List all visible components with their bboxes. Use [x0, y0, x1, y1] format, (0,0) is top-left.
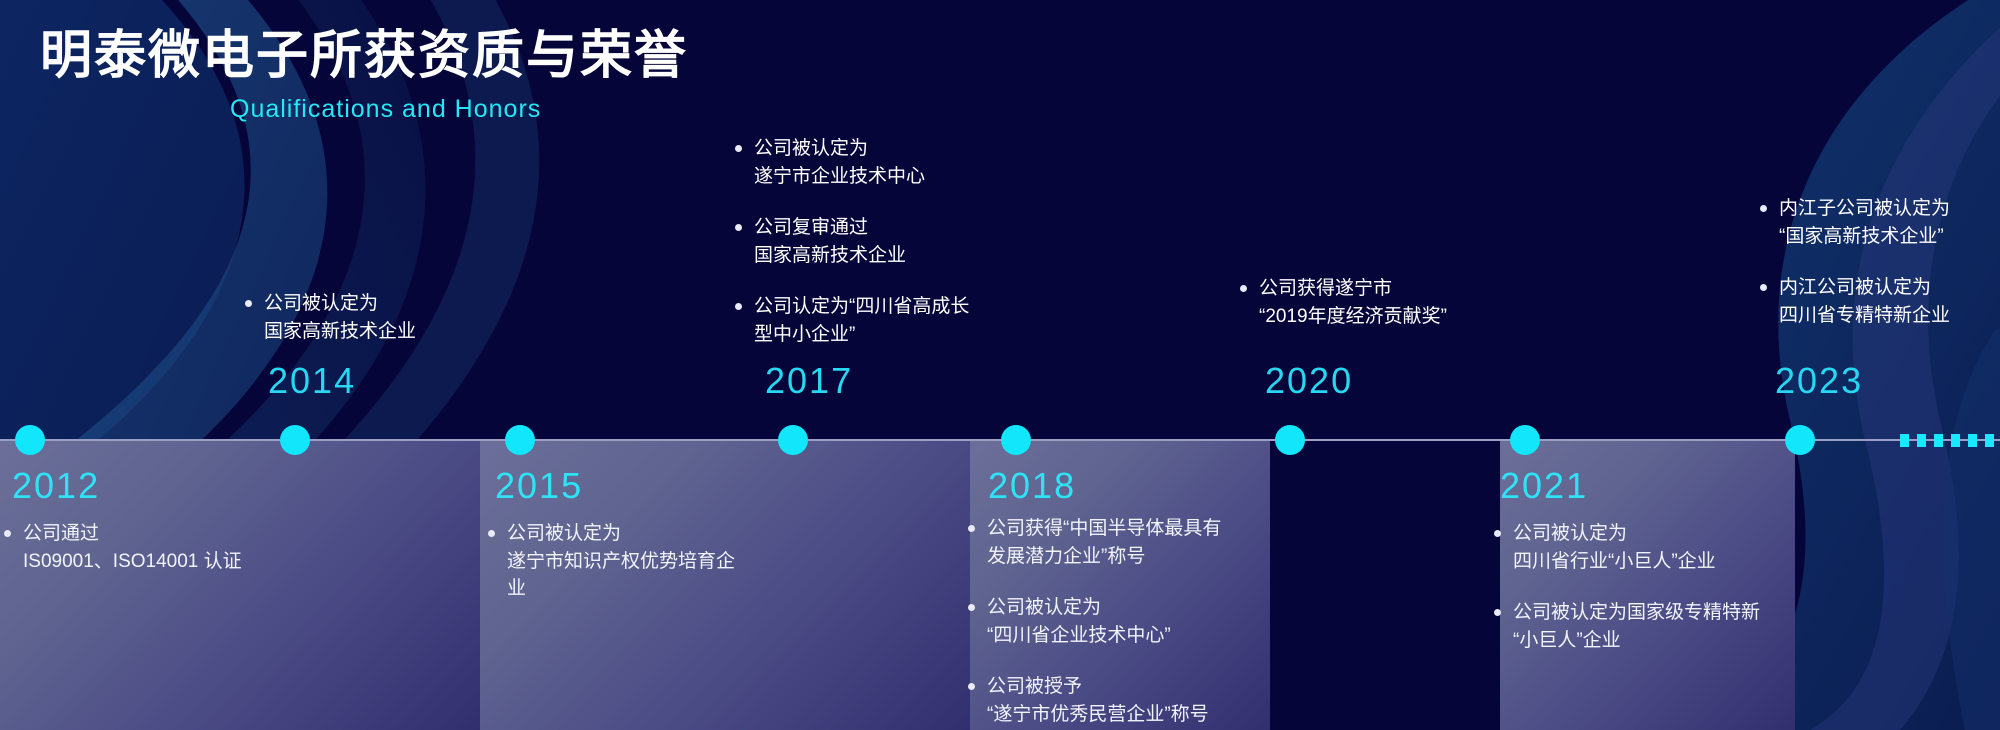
milestone-bullet-text: 公司认定为“四川省高成长 型中小企业”	[754, 293, 969, 348]
milestone-block-2017: 公司被认定为 遂宁市企业技术中心公司复审通过 国家高新技术企业公司认定为“四川省…	[735, 135, 1065, 348]
milestone-block-2014: 公司被认定为 国家高新技术企业	[245, 290, 575, 345]
milestone-bullet: 公司被认定为 “四川省企业技术中心”	[968, 594, 1268, 649]
milestone-bullet-text: 公司获得“中国半导体最具有 发展潜力企业”称号	[987, 515, 1221, 570]
milestone-block-2018: 公司获得“中国半导体最具有 发展潜力企业”称号公司被认定为 “四川省企业技术中心…	[968, 515, 1268, 728]
milestone-bullet: 内江公司被认定为 四川省专精特新企业	[1760, 274, 2000, 329]
bullet-point-icon	[968, 525, 975, 532]
timeline-dot-2021[interactable]	[1510, 425, 1540, 455]
header: 明泰微电子所获资质与荣誉 Qualifications and Honors	[40, 28, 688, 124]
timeline-dot-2017[interactable]	[778, 425, 808, 455]
slide-canvas: 明泰微电子所获资质与荣誉 Qualifications and Honors 2…	[0, 0, 2000, 730]
bullet-point-icon	[968, 683, 975, 690]
axis-dash	[1985, 434, 1994, 447]
milestone-bullet: 公司获得遂宁市 “2019年度经济贡献奖”	[1240, 275, 1580, 330]
milestone-bullet: 公司被认定为 遂宁市知识产权优势培育企 业	[488, 520, 788, 603]
milestone-bullet: 公司被认定为国家级专精特新 “小巨人”企业	[1494, 599, 1814, 654]
milestone-bullet-text: 公司复审通过 国家高新技术企业	[754, 214, 906, 269]
timeline-dot-2012[interactable]	[15, 425, 45, 455]
milestone-block-2021: 公司被认定为 四川省行业“小巨人”企业公司被认定为国家级专精特新 “小巨人”企业	[1494, 520, 1814, 654]
bullet-point-icon	[735, 145, 742, 152]
timeline-dot-2014[interactable]	[280, 425, 310, 455]
milestone-block-2012: 公司通过 IS09001、ISO14001 认证	[4, 520, 334, 575]
bullet-point-icon	[245, 300, 252, 307]
axis-dash	[1968, 434, 1977, 447]
bullet-point-icon	[968, 604, 975, 611]
year-label-2021: 2021	[1500, 465, 1588, 507]
timeline-axis-dashes	[1900, 434, 1994, 447]
milestone-bullet-text: 公司被认定为 遂宁市知识产权优势培育企 业	[507, 520, 735, 603]
milestone-bullet: 公司获得“中国半导体最具有 发展潜力企业”称号	[968, 515, 1268, 570]
bullet-point-icon	[1760, 205, 1767, 212]
bullet-point-icon	[1494, 530, 1501, 537]
bullet-point-icon	[1494, 609, 1501, 616]
milestone-block-2023: 内江子公司被认定为 “国家高新技术企业”内江公司被认定为 四川省专精特新企业	[1760, 195, 2000, 329]
year-label-2017: 2017	[765, 360, 853, 402]
axis-dash	[1917, 434, 1926, 447]
milestone-bullet-text: 公司被授予 “遂宁市优秀民营企业”称号	[987, 673, 1209, 728]
timeline-dot-2020[interactable]	[1275, 425, 1305, 455]
bullet-point-icon	[1760, 284, 1767, 291]
milestone-bullet-text: 内江公司被认定为 四川省专精特新企业	[1779, 274, 1950, 329]
milestone-bullet-text: 公司被认定为 “四川省企业技术中心”	[987, 594, 1171, 649]
timeline-dot-2018[interactable]	[1001, 425, 1031, 455]
milestone-block-2020: 公司获得遂宁市 “2019年度经济贡献奖”	[1240, 275, 1580, 330]
year-label-2018: 2018	[988, 465, 1076, 507]
year-label-2015: 2015	[495, 465, 583, 507]
milestone-bullet: 公司被认定为 遂宁市企业技术中心	[735, 135, 1065, 190]
axis-dash	[1900, 434, 1909, 447]
year-label-2023: 2023	[1775, 360, 1863, 402]
bullet-point-icon	[735, 303, 742, 310]
bullet-point-icon	[488, 530, 495, 537]
year-label-2020: 2020	[1265, 360, 1353, 402]
year-label-2012: 2012	[12, 465, 100, 507]
milestone-bullet: 公司通过 IS09001、ISO14001 认证	[4, 520, 334, 575]
milestone-bullet-text: 内江子公司被认定为 “国家高新技术企业”	[1779, 195, 1950, 250]
milestone-bullet-text: 公司被认定为 遂宁市企业技术中心	[754, 135, 925, 190]
milestone-bullet-text: 公司被认定为 国家高新技术企业	[264, 290, 416, 345]
milestone-bullet: 公司被认定为 国家高新技术企业	[245, 290, 575, 345]
page-subtitle: Qualifications and Honors	[230, 95, 688, 124]
axis-dash	[1934, 434, 1943, 447]
milestone-block-2015: 公司被认定为 遂宁市知识产权优势培育企 业	[488, 520, 788, 603]
milestone-bullet-text: 公司获得遂宁市 “2019年度经济贡献奖”	[1259, 275, 1447, 330]
bullet-point-icon	[1240, 285, 1247, 292]
milestone-bullet: 公司被认定为 四川省行业“小巨人”企业	[1494, 520, 1814, 575]
milestone-bullet: 公司复审通过 国家高新技术企业	[735, 214, 1065, 269]
milestone-bullet-text: 公司被认定为 四川省行业“小巨人”企业	[1513, 520, 1716, 575]
milestone-bullet: 内江子公司被认定为 “国家高新技术企业”	[1760, 195, 2000, 250]
bullet-point-icon	[4, 530, 11, 537]
timeline-dot-2023[interactable]	[1785, 425, 1815, 455]
milestone-bullet: 公司认定为“四川省高成长 型中小企业”	[735, 293, 1065, 348]
page-title: 明泰微电子所获资质与荣誉	[40, 28, 688, 85]
axis-dash	[1951, 434, 1960, 447]
year-label-2014: 2014	[268, 360, 356, 402]
timeline-dot-2015[interactable]	[505, 425, 535, 455]
bullet-point-icon	[735, 224, 742, 231]
milestone-bullet-text: 公司被认定为国家级专精特新 “小巨人”企业	[1513, 599, 1760, 654]
milestone-bullet: 公司被授予 “遂宁市优秀民营企业”称号	[968, 673, 1268, 728]
milestone-bullet-text: 公司通过 IS09001、ISO14001 认证	[23, 520, 242, 575]
